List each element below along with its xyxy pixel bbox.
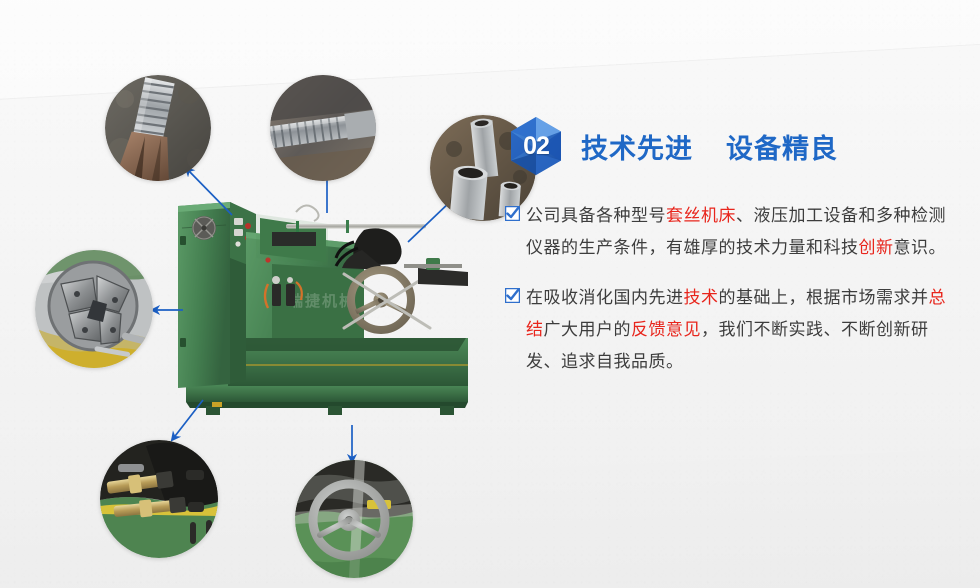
text-segment-highlight: 套丝机床 bbox=[666, 206, 736, 226]
headline: 02 技术先进 设备精良 bbox=[505, 110, 960, 182]
bubble-threaded-rod bbox=[270, 75, 376, 181]
text-segment-highlight: 技术 bbox=[684, 288, 719, 308]
step-badge: 02 bbox=[505, 115, 567, 177]
checkbox-checked-icon bbox=[505, 288, 520, 303]
arrow-to-bubble-hydraulic-fitting bbox=[172, 400, 203, 440]
bubble-hydraulic-fitting-image bbox=[100, 440, 218, 558]
bubble-handwheel-image bbox=[295, 460, 413, 578]
bubble-chuck-jaws-image bbox=[35, 250, 153, 368]
text-segment: 在吸收消化国内先进 bbox=[526, 288, 684, 308]
text-segment: 意识。 bbox=[894, 238, 947, 258]
headline-title: 技术先进 设备精良 bbox=[581, 127, 838, 166]
text-segment-highlight: 反馈意见 bbox=[631, 320, 701, 340]
text-segment: 的基础上，根据市场需求并 bbox=[719, 288, 929, 308]
bubble-threaded-rod-image bbox=[270, 75, 376, 181]
bubble-handwheel bbox=[295, 460, 413, 578]
bullet-text-1: 公司具备各种型号套丝机床、液压加工设备和多种检测仪器的生产条件，有雄厚的技术力量… bbox=[526, 200, 960, 264]
headline-title-part-2: 设备精良 bbox=[726, 134, 838, 164]
bubble-threaded-rod-tip-image bbox=[105, 75, 211, 181]
banner-stage: 瑞捷机械 bbox=[0, 0, 980, 588]
bullet-item-1: 公司具备各种型号套丝机床、液压加工设备和多种检测仪器的生产条件，有雄厚的技术力量… bbox=[505, 200, 960, 264]
bullet-item-2: 在吸收消化国内先进技术的基础上，根据市场需求并总结广大用户的反馈意见，我们不断实… bbox=[505, 282, 960, 378]
checkbox-checked-icon bbox=[505, 206, 520, 221]
bubble-threaded-rod-tip bbox=[105, 75, 211, 181]
bubble-hydraulic-fitting bbox=[100, 440, 218, 558]
text-segment-highlight: 创新 bbox=[859, 238, 894, 258]
text-segment: 公司具备各种型号 bbox=[526, 206, 666, 226]
bullet-text-2: 在吸收消化国内先进技术的基础上，根据市场需求并总结广大用户的反馈意见，我们不断实… bbox=[526, 282, 960, 378]
step-badge-number: 02 bbox=[505, 115, 567, 177]
headline-title-part-1: 技术先进 bbox=[581, 134, 693, 164]
text-segment: 广大用户的 bbox=[544, 320, 632, 340]
content-column: 02 技术先进 设备精良 公司具备各种型号套丝机床、液压加工设备和多种检测仪器的… bbox=[505, 110, 960, 378]
bubble-chuck-jaws bbox=[35, 250, 153, 368]
